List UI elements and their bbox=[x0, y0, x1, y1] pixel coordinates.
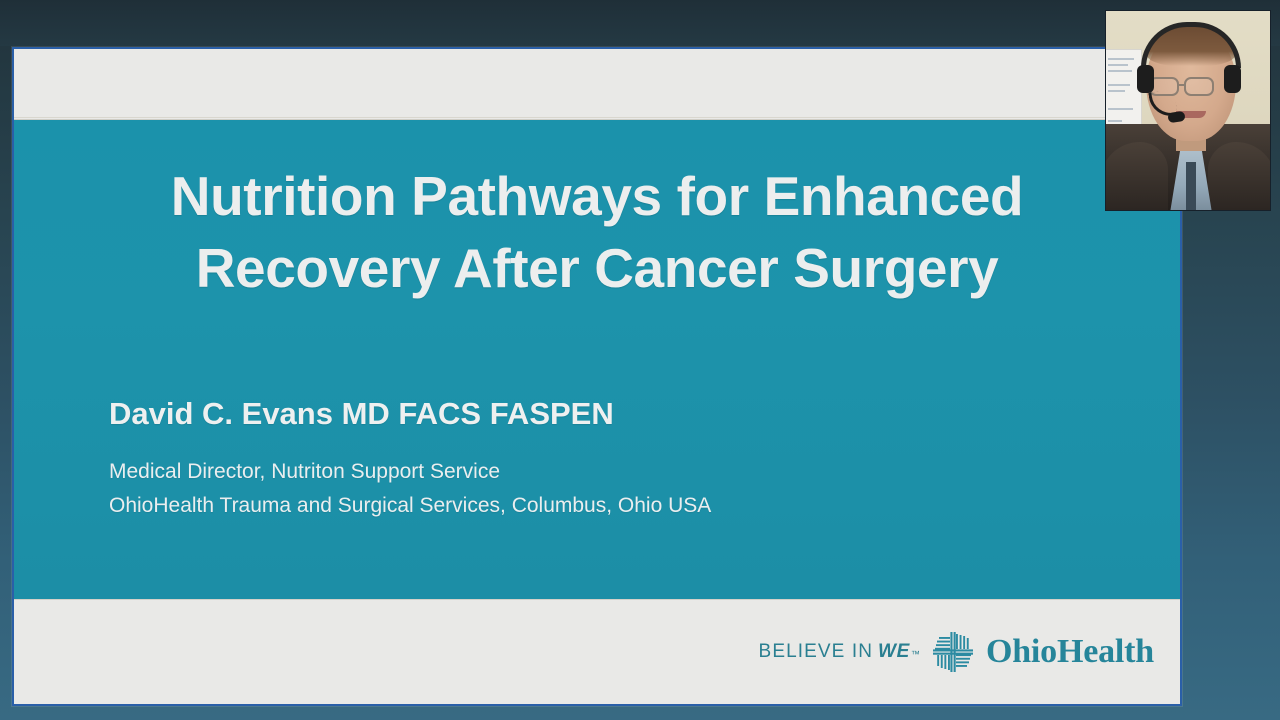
tagline-emphasis-text: WE bbox=[878, 641, 910, 663]
slide-header-band bbox=[14, 49, 1180, 118]
presenter-affiliation-line-1: Medical Director, Nutriton Support Servi… bbox=[109, 455, 1009, 489]
slide-title-block: Nutrition Pathways for Enhanced Recovery… bbox=[14, 160, 1180, 304]
presentation-slide[interactable]: Nutrition Pathways for Enhanced Recovery… bbox=[12, 47, 1182, 706]
webcam-glasses-bridge bbox=[1179, 84, 1184, 86]
presenter-webcam-tile[interactable] bbox=[1105, 10, 1271, 211]
slide-footer-band: BELIEVE IN WE ™ bbox=[14, 599, 1180, 704]
webcam-background-paper bbox=[1106, 49, 1142, 135]
tagline-prefix-text: BELIEVE IN bbox=[759, 641, 874, 663]
presenter-affiliation-line-2: OhioHealth Trauma and Surgical Services,… bbox=[109, 489, 1009, 523]
trademark-symbol: ™ bbox=[911, 649, 921, 659]
headset-earcup-right bbox=[1224, 65, 1241, 93]
webcam-video-frame bbox=[1106, 11, 1270, 210]
webcam-glasses-right bbox=[1184, 77, 1214, 96]
ohiohealth-wordmark: OhioHealth bbox=[986, 635, 1154, 669]
believe-in-we-tagline: BELIEVE IN WE ™ bbox=[759, 641, 921, 663]
background-top-band bbox=[0, 0, 1280, 46]
slide-body: Nutrition Pathways for Enhanced Recovery… bbox=[14, 119, 1180, 599]
page-title: Nutrition Pathways for Enhanced Recovery… bbox=[117, 160, 1077, 304]
headset-earcup-left bbox=[1137, 65, 1154, 93]
webcam-jacket-left bbox=[1106, 142, 1168, 210]
webcam-tie bbox=[1186, 162, 1196, 210]
presenter-name: David C. Evans MD FACS FASPEN bbox=[109, 395, 1009, 433]
screen-capture-stage: Nutrition Pathways for Enhanced Recovery… bbox=[0, 0, 1280, 720]
presenter-block: David C. Evans MD FACS FASPEN Medical Di… bbox=[109, 395, 1009, 523]
webcam-jacket-right bbox=[1208, 142, 1270, 210]
ohiohealth-weave-mark-icon bbox=[929, 628, 977, 676]
ohiohealth-logo-lockup: BELIEVE IN WE ™ bbox=[759, 628, 1154, 676]
